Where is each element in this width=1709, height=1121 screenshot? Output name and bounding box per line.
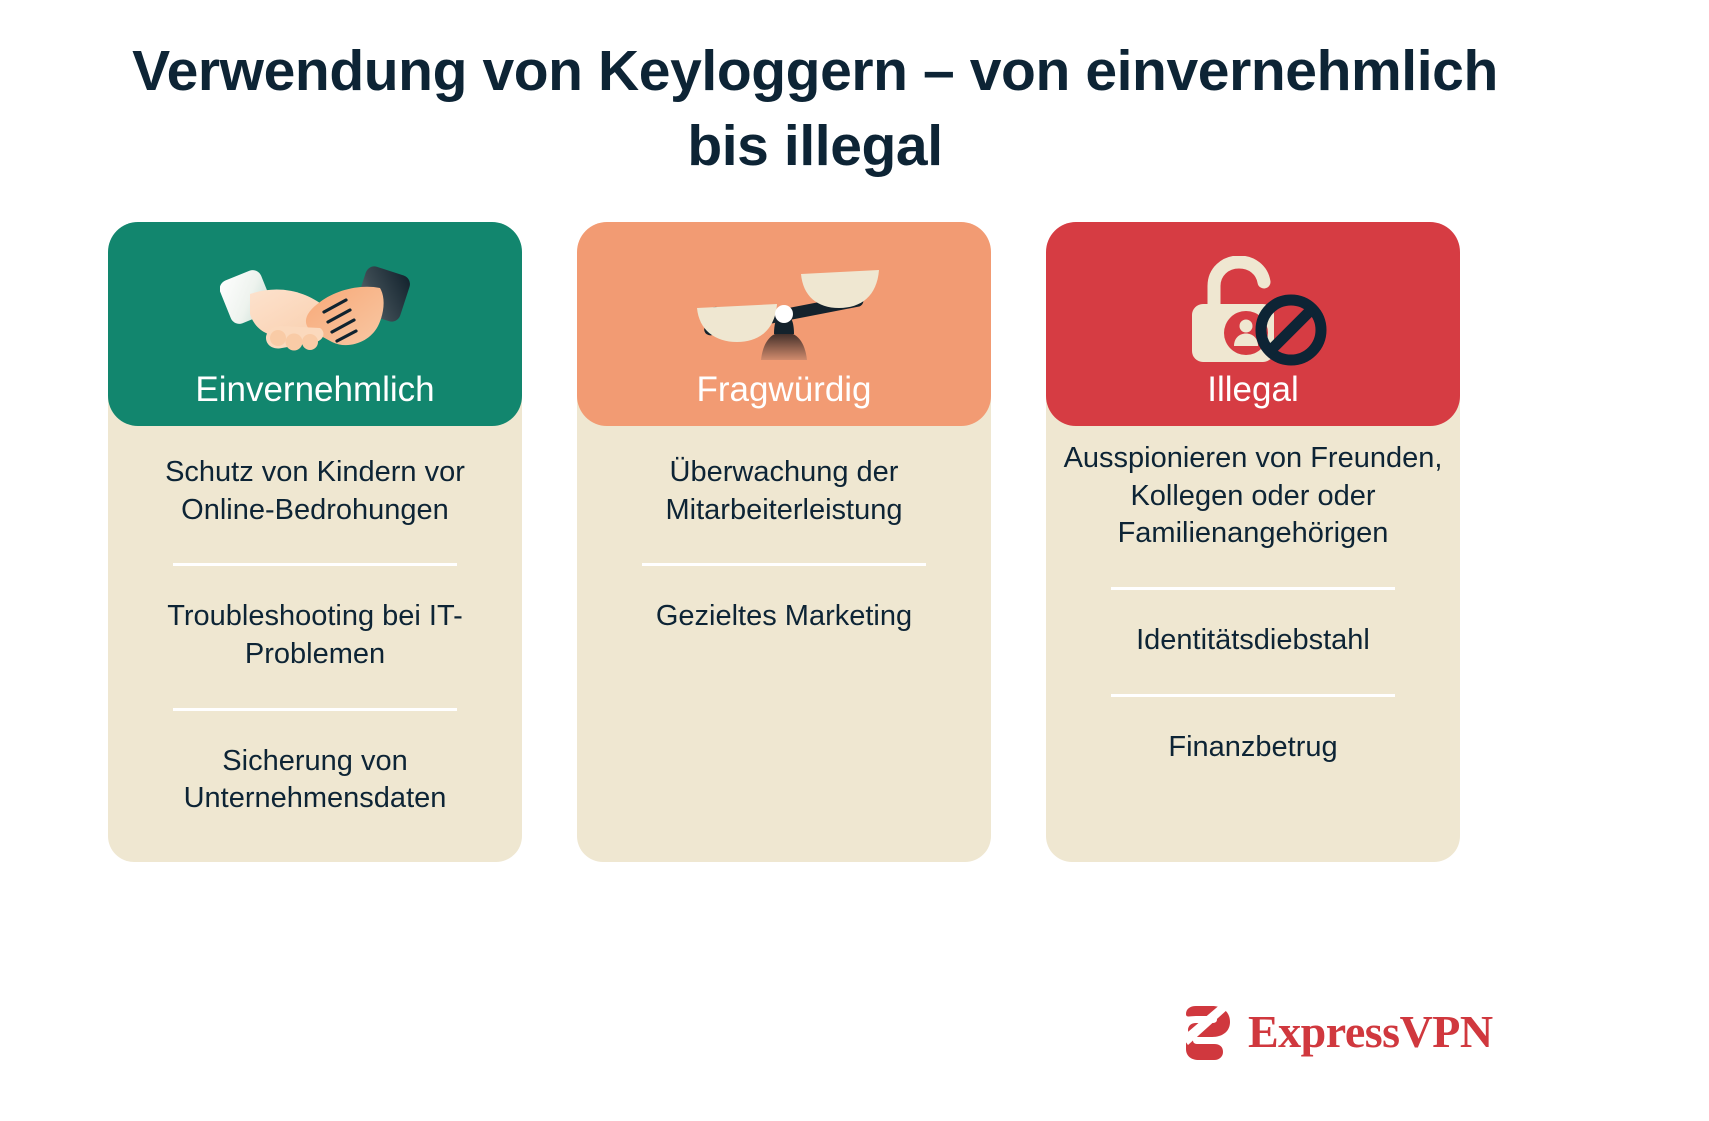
card-illegal: Illegal Ausspionieren von Freunden, Koll… (1046, 222, 1460, 818)
card-title-questionable: Fragwürdig (696, 370, 871, 410)
list-item: Sicherung von Unternehmensdaten (122, 743, 508, 818)
expressvpn-wordmark: ExpressVPN (1248, 1009, 1493, 1055)
card-item-list-consensual: Schutz von Kindern vor Online-Bedrohunge… (108, 422, 522, 818)
item-divider (642, 563, 926, 566)
unlocked-padlock-prohibited-icon (1158, 256, 1348, 368)
list-item: Schutz von Kindern vor Online-Bedrohunge… (122, 454, 508, 529)
handshake-icon (220, 256, 410, 368)
list-item: Überwachung der Mitarbeiterleistung (591, 454, 977, 529)
list-item: Ausspionieren von Freunden, Kollegen ode… (1060, 440, 1446, 553)
item-divider (173, 708, 457, 711)
card-header-illegal: Illegal (1046, 222, 1460, 426)
infographic-canvas: Verwendung von Keyloggern – von einverne… (0, 0, 1709, 1121)
page-title: Verwendung von Keyloggern – von einverne… (90, 34, 1540, 184)
card-header-consensual: Einvernehmlich (108, 222, 522, 426)
card-item-list-questionable: Überwachung der Mitarbeiterleistung Gezi… (577, 422, 991, 636)
list-item: Identitätsdiebstahl (1060, 622, 1446, 660)
list-item: Finanzbetrug (1060, 729, 1446, 767)
card-consensual: Einvernehmlich Schutz von Kindern vor On… (108, 222, 522, 818)
card-header-questionable: Fragwürdig (577, 222, 991, 426)
list-item: Troubleshooting bei IT-Problemen (122, 598, 508, 673)
list-item: Gezieltes Marketing (591, 598, 977, 636)
cards-row: Einvernehmlich Schutz von Kindern vor On… (108, 222, 1460, 818)
card-title-illegal: Illegal (1207, 370, 1298, 410)
item-divider (1111, 587, 1395, 590)
expressvpn-e-mark-icon (1172, 1001, 1234, 1063)
card-questionable: Fragwürdig Überwachung der Mitarbeiterle… (577, 222, 991, 818)
expressvpn-logo: ExpressVPN (1172, 990, 1472, 1074)
item-divider (173, 563, 457, 566)
card-item-list-illegal: Ausspionieren von Freunden, Kollegen ode… (1046, 422, 1460, 766)
card-title-consensual: Einvernehmlich (195, 370, 434, 410)
unbalanced-scale-icon (689, 256, 879, 368)
item-divider (1111, 694, 1395, 697)
